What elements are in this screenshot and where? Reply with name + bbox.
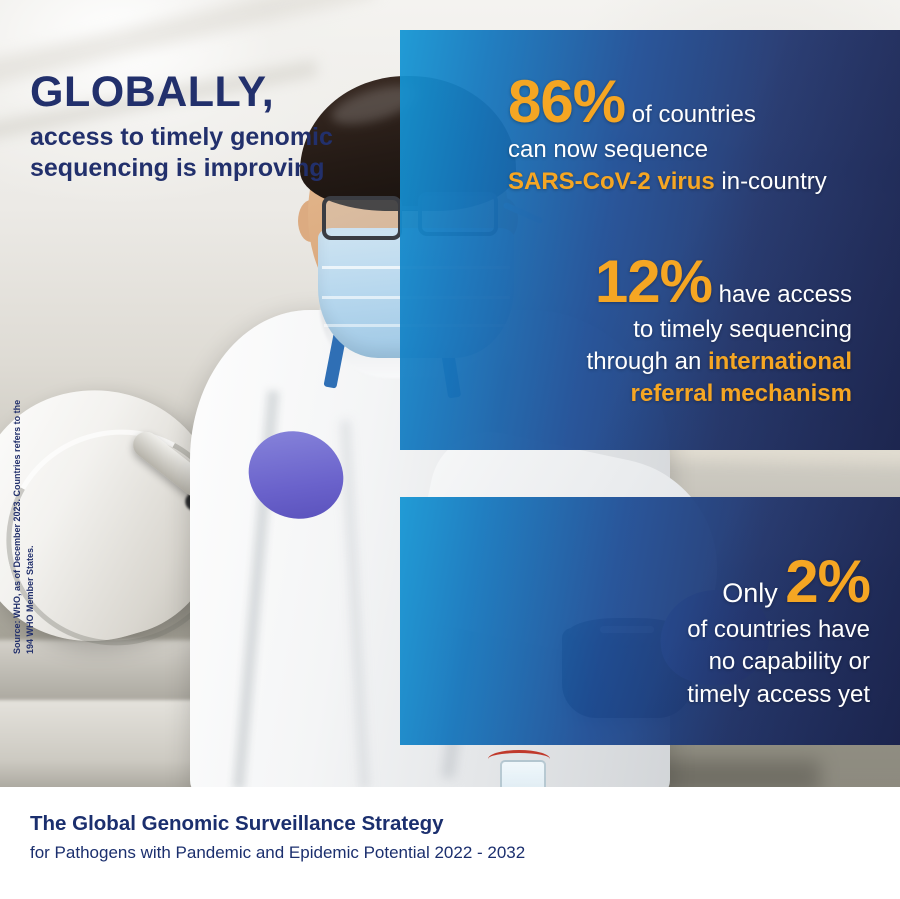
source-note: Source: WHO, as of December 2023. Countr… — [11, 392, 37, 654]
footer-subtitle: for Pathogens with Pandemic and Epidemic… — [30, 842, 630, 865]
stat-block-2: Only 2% of countries have no capability … — [600, 552, 870, 711]
stat-2-value: 12% — [595, 248, 712, 315]
eyeglasses-lens — [322, 196, 402, 240]
stat-1-line-1: 86% of countries — [508, 72, 878, 132]
stat-1-accent: SARS-CoV-2 virus — [508, 168, 715, 195]
stat-1-line-2: can now sequence — [508, 134, 878, 166]
infographic-poster: GLOBALLY, access to timely genomic seque… — [0, 0, 900, 899]
stat-2-line-3-text: through an — [587, 348, 708, 375]
stat-1-line-1-text: of countries — [625, 101, 756, 128]
stat-2-line-3: through an international — [432, 346, 852, 378]
stat-3-line-3: no capability or — [600, 646, 870, 678]
stat-2-line-2: to timely sequencing — [432, 314, 852, 346]
pocket-sample-tube — [500, 760, 546, 790]
stat-3-prefix: Only — [722, 578, 785, 608]
stat-1-line-3-text: in-country — [715, 168, 827, 195]
stat-1-value: 86% — [508, 68, 625, 135]
footer-title: The Global Genomic Surveillance Strategy — [30, 811, 630, 838]
stat-3-value: 2% — [785, 548, 870, 615]
stat-3-line-4: timely access yet — [600, 679, 870, 711]
source-note-wrapper: Source: WHO, as of December 2023. Countr… — [6, 390, 42, 655]
stat-3-line-1: Only 2% — [600, 552, 870, 612]
stat-3-line-2: of countries have — [600, 614, 870, 646]
stat-2-line-1: 12% have access — [432, 252, 852, 312]
stat-1-line-3: SARS-CoV-2 virus in-country — [508, 166, 878, 198]
headline-line-1: GLOBALLY, — [30, 70, 390, 116]
footer-bar: The Global Genomic Surveillance Strategy… — [0, 787, 900, 899]
headline-block: GLOBALLY, access to timely genomic seque… — [30, 70, 390, 185]
footer-text-block: The Global Genomic Surveillance Strategy… — [30, 811, 630, 865]
stat-block-86: 86% of countries can now sequence SARS-C… — [508, 72, 878, 198]
stat-2-accent-1: international — [708, 348, 852, 375]
stat-2-line-4: referral mechanism — [432, 378, 852, 410]
stat-2-accent-2: referral mechanism — [631, 380, 852, 407]
stat-block-12: 12% have access to timely sequencing thr… — [432, 252, 852, 410]
stat-2-line-1-text: have access — [712, 281, 852, 308]
headline-line-2: access to timely genomic sequencing is i… — [30, 122, 390, 186]
